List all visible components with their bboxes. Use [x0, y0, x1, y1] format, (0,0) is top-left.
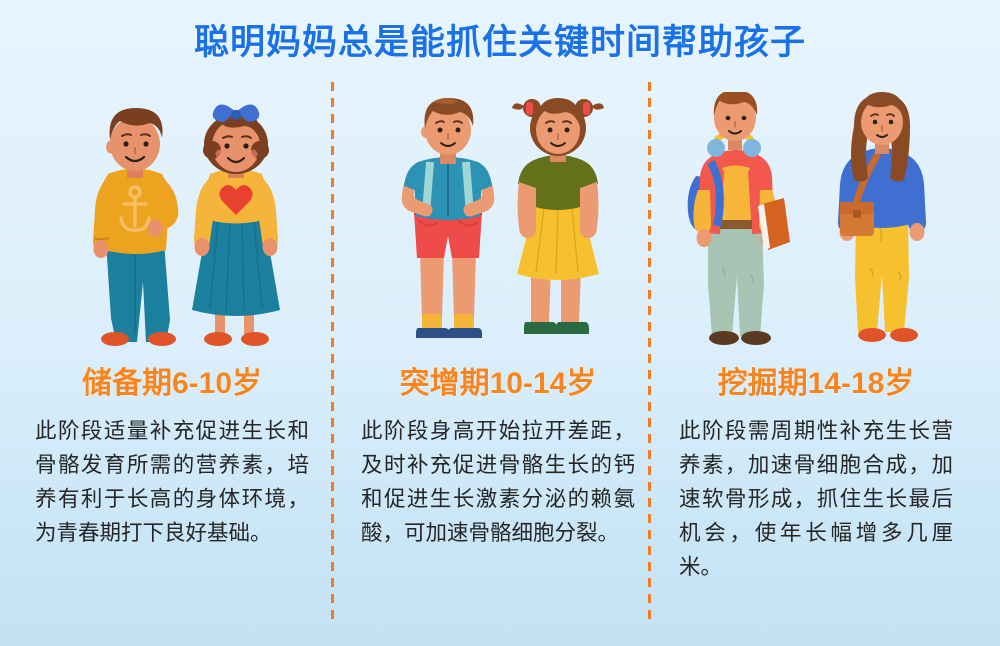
stage-body-3: 此阶段需周期性补充生长营养素，加速骨细胞合成，加速软骨形成，抓住生长最后机会，使… [679, 414, 953, 584]
stage-heading-1: 储备期6-10岁 [22, 358, 322, 402]
teen-girl-figure [838, 92, 926, 342]
young-boy-figure [93, 108, 178, 346]
stage-body-2: 此阶段身高开始拉开差距，及时补充促进骨骼生长的钙和促进生长激素分泌的赖氨酸，可加… [361, 414, 635, 550]
preteen-boy-figure [402, 98, 495, 338]
young-girl-figure [192, 104, 280, 346]
infographic-poster: 聪明妈妈总是能抓住关键时间帮助孩子 [0, 0, 1000, 646]
stage-body-1: 此阶段适量补充促进生长和骨骼发育所需的营养素，培养有利于长高的身体环境，为青春期… [35, 414, 309, 550]
column-divider-2 [648, 82, 651, 620]
stage-column-2: 突增期10-14岁 此阶段身高开始拉开差距，及时补充促进骨骼生长的钙和促进生长激… [348, 92, 648, 612]
stage-heading-2: 突增期10-14岁 [348, 358, 648, 402]
preteen-girl-figure [512, 98, 604, 334]
stage-column-1: 储备期6-10岁 此阶段适量补充促进生长和骨骼发育所需的营养素，培养有利于长高的… [22, 92, 322, 612]
teen-boy-and-girl-illustration [666, 92, 966, 354]
preteen-boy-and-girl-illustration [348, 92, 648, 354]
teen-boy-figure [688, 92, 790, 345]
page-title: 聪明妈妈总是能抓住关键时间帮助孩子 [0, 14, 1000, 65]
stage-column-3: 挖掘期14-18岁 此阶段需周期性补充生长营养素，加速骨细胞合成，加速软骨形成，… [666, 92, 966, 612]
column-divider-1 [331, 82, 334, 620]
stage-heading-3: 挖掘期14-18岁 [666, 358, 966, 402]
hair-bow [213, 104, 260, 122]
young-boy-and-girl-illustration [22, 92, 322, 354]
